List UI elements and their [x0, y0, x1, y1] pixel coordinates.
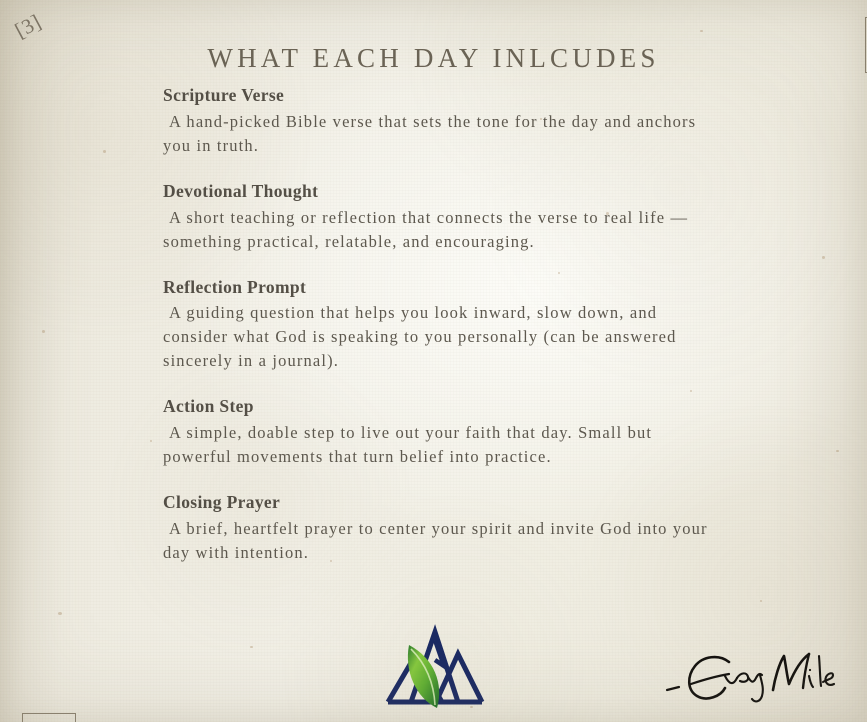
page-canvas: [3] WHAT EACH DAY INLCUDES Scripture Ver… [0, 0, 867, 722]
paper-vignette [0, 0, 867, 722]
